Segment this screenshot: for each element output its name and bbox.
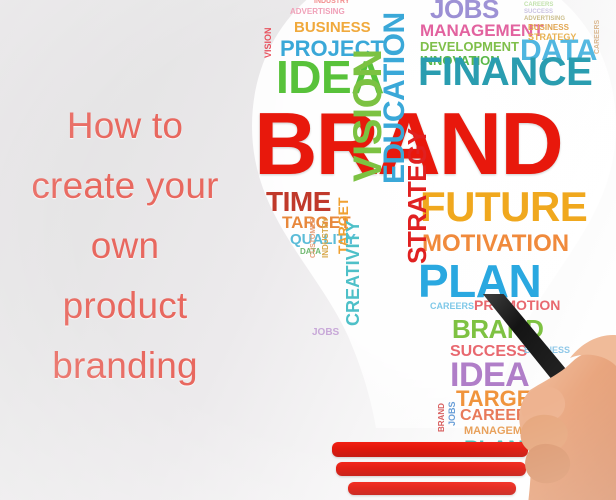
wordcloud-word: ADVERTISING bbox=[290, 8, 345, 16]
wordcloud-word: CAREERS bbox=[430, 302, 474, 311]
wordcloud-word: JOBS bbox=[312, 328, 339, 338]
wordcloud-word: FINANCE bbox=[418, 52, 592, 92]
hand-holding-pen-icon bbox=[472, 294, 616, 500]
wordcloud-word: BUSINESS bbox=[294, 20, 371, 35]
wordcloud-word: JOBS bbox=[448, 401, 457, 426]
wordcloud-word: SUCCESS bbox=[524, 9, 553, 15]
wordcloud-word: CREATIVITY bbox=[344, 220, 362, 326]
wordcloud-word: CUSTOMER bbox=[310, 218, 317, 258]
wordcloud-word: INDUSTRY bbox=[314, 0, 350, 5]
wordcloud-word: STRATEGY bbox=[528, 33, 576, 42]
wordcloud-word: FUTURE bbox=[420, 186, 587, 228]
wordcloud-word: MOTIVATION bbox=[422, 232, 569, 256]
page-title: How to create your own product branding bbox=[0, 96, 250, 396]
wordcloud-word: CAREERS bbox=[594, 20, 601, 54]
wordcloud-word: VISION bbox=[264, 27, 273, 58]
wordcloud-word: BUSINESS bbox=[528, 24, 569, 32]
poster-canvas: How to create your own product branding … bbox=[0, 0, 616, 500]
wordcloud-word: CAREERS bbox=[524, 2, 553, 8]
wordcloud-word: STRATEGY bbox=[404, 128, 430, 264]
wordcloud-word: TIME bbox=[266, 188, 331, 216]
wordcloud-word: ADVERTISING bbox=[524, 16, 565, 22]
wordcloud-word: JOBS bbox=[430, 0, 499, 22]
wordcloud-word: BRAND bbox=[438, 403, 446, 432]
wordcloud-word: INDUSTRY bbox=[322, 217, 330, 258]
